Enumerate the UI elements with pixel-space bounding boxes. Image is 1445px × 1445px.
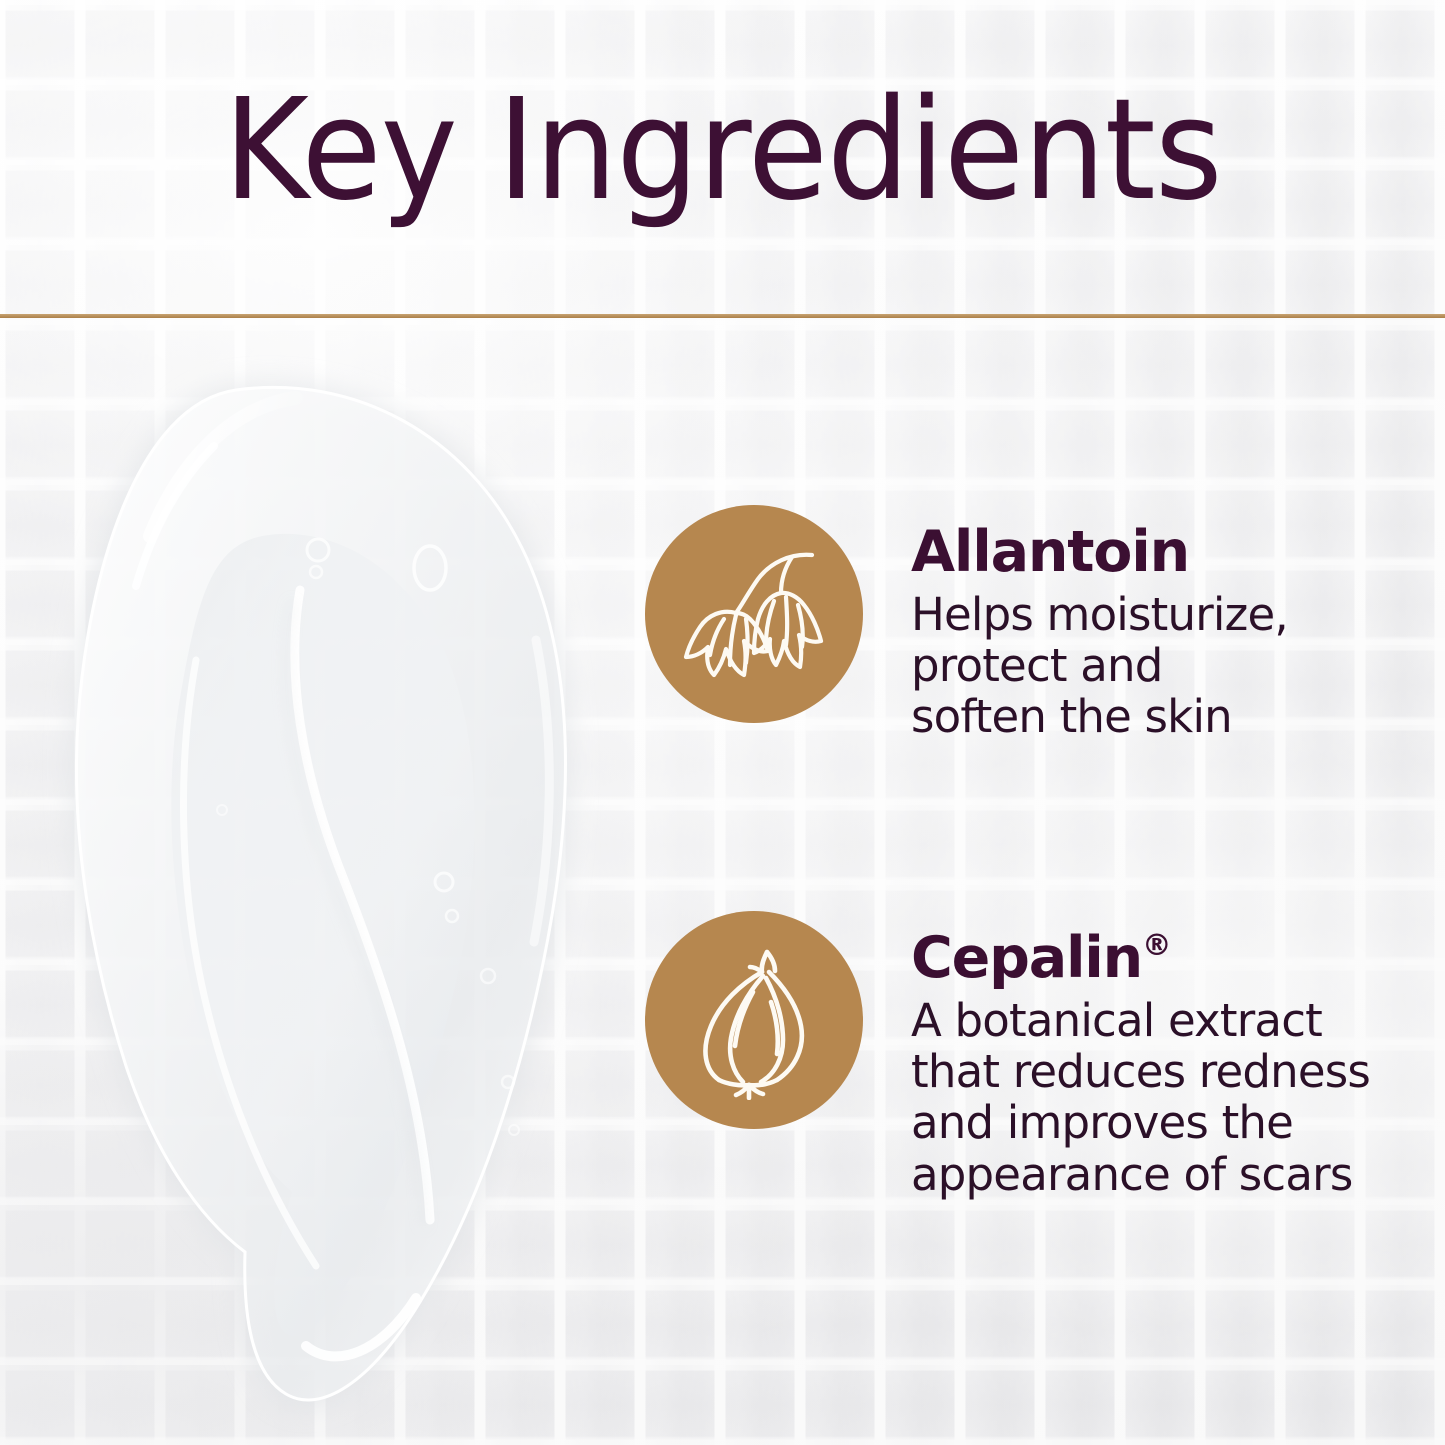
ingredient-item-cepalin: Cepalin® A botanical extract that reduce… [645,911,1405,1200]
ingredient-text-cepalin: Cepalin® A botanical extract that reduce… [911,911,1370,1200]
onion-bulb-icon [679,940,829,1100]
registered-trademark-symbol: ® [1142,927,1172,962]
ingredient-badge-cepalin [645,911,863,1129]
page-title: Key Ingredients [223,81,1221,237]
key-ingredients-infographic: Key Ingredients [0,0,1445,1445]
comfrey-flower-icon [674,539,834,689]
ingredient-text-allantoin: Allantoin Helps moisturize, protect and … [911,505,1288,743]
ingredient-description: Helps moisturize, protect and soften the… [911,589,1288,743]
ingredient-item-allantoin: Allantoin Helps moisturize, protect and … [645,505,1405,743]
ingredient-name: Allantoin [911,523,1288,583]
ingredient-list: Allantoin Helps moisturize, protect and … [645,505,1405,1200]
gold-divider-rule [0,314,1445,318]
header: Key Ingredients [0,0,1445,317]
ingredient-name-label: Cepalin [911,925,1142,991]
ingredient-badge-allantoin [645,505,863,723]
ingredient-description: A botanical extract that reduces redness… [911,995,1370,1200]
ingredient-name: Cepalin® [911,929,1370,989]
